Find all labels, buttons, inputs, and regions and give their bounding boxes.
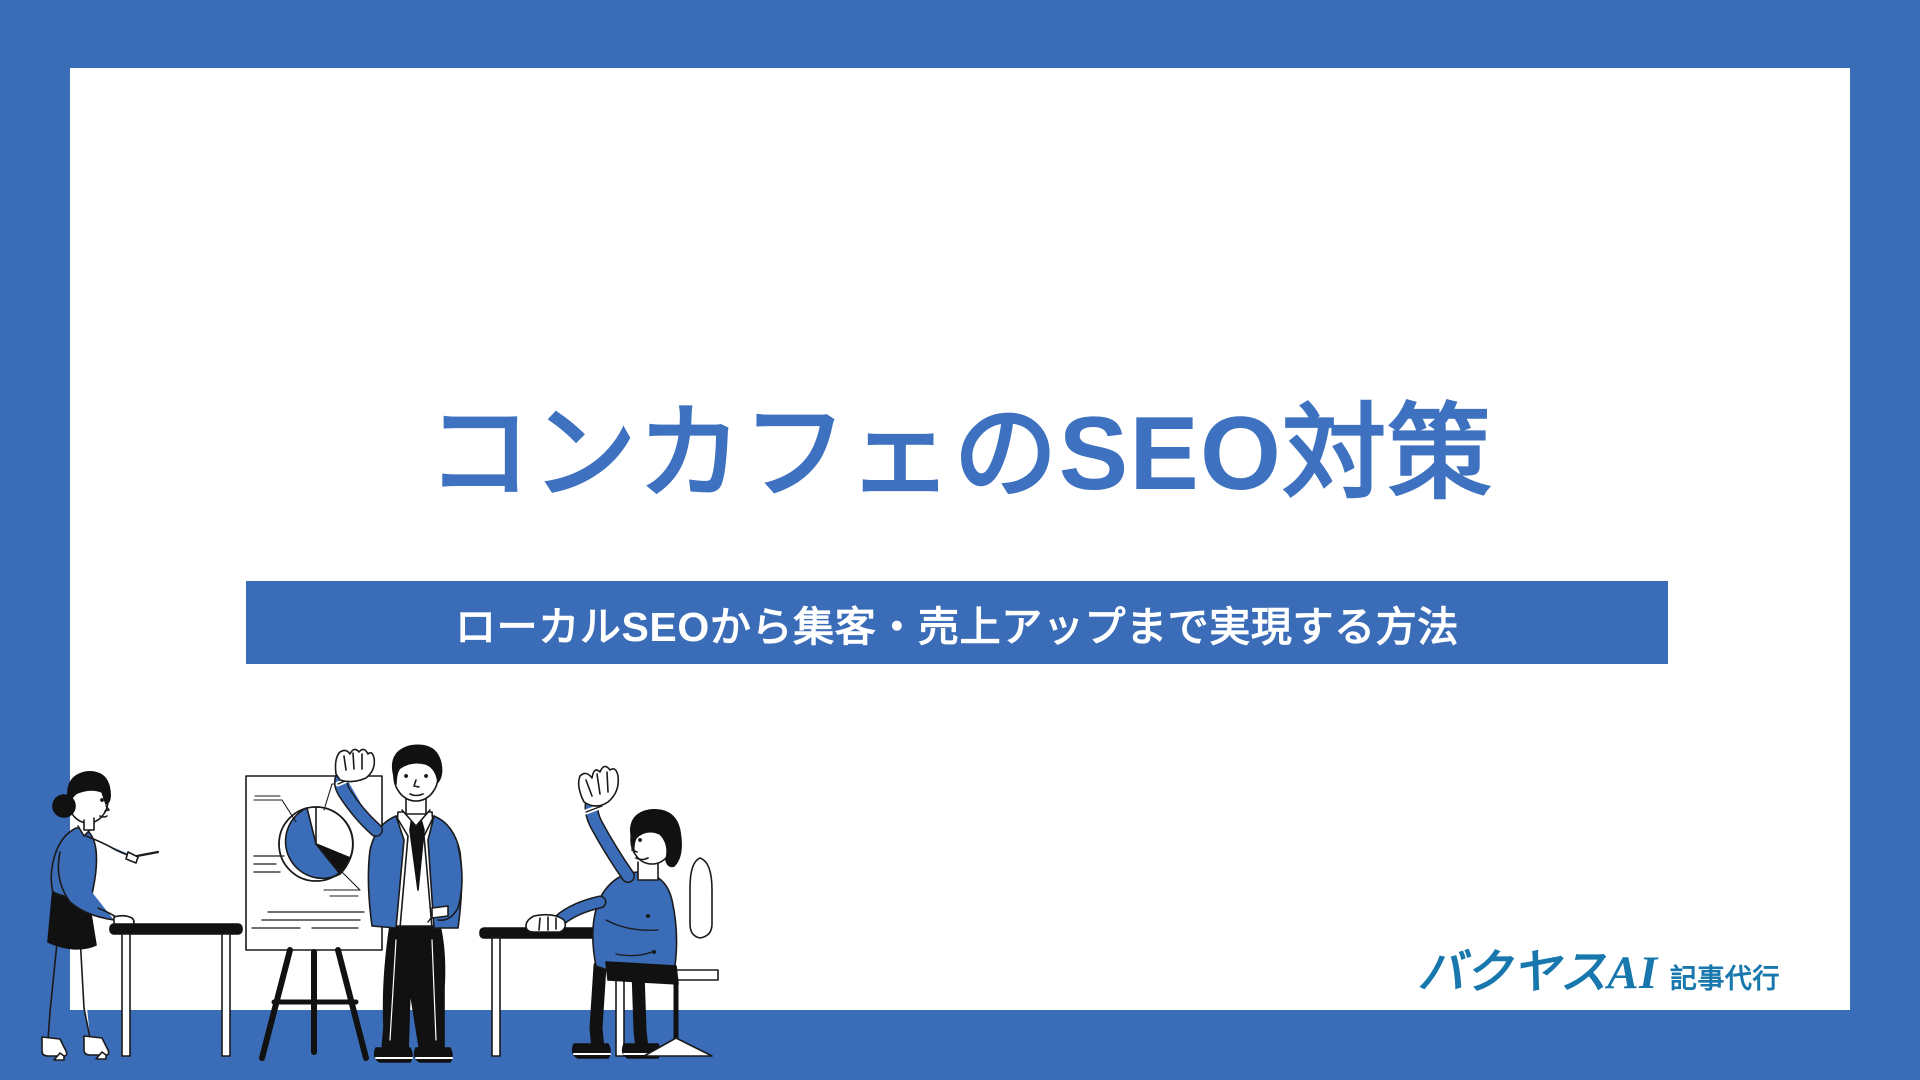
brand-logo: バクヤスAI 記事代行 [1417, 933, 1780, 1002]
page-subtitle: ローカルSEOから集客・売上アップまで実現する方法 [455, 593, 1459, 653]
brand-logo-name: バクヤスAI [1417, 933, 1657, 1002]
page-title: コンカフェのSEO対策 [427, 398, 1492, 510]
subtitle-band: ローカルSEOから集客・売上アップまで実現する方法 [246, 581, 1668, 664]
white-content-panel [70, 68, 1850, 1010]
title-container: コンカフェのSEO対策 [0, 398, 1920, 510]
slide-canvas: コンカフェのSEO対策 ローカルSEOから集客・売上アップまで実現する方法 バク… [0, 0, 1920, 1080]
brand-logo-tagline: 記事代行 [1670, 957, 1780, 996]
